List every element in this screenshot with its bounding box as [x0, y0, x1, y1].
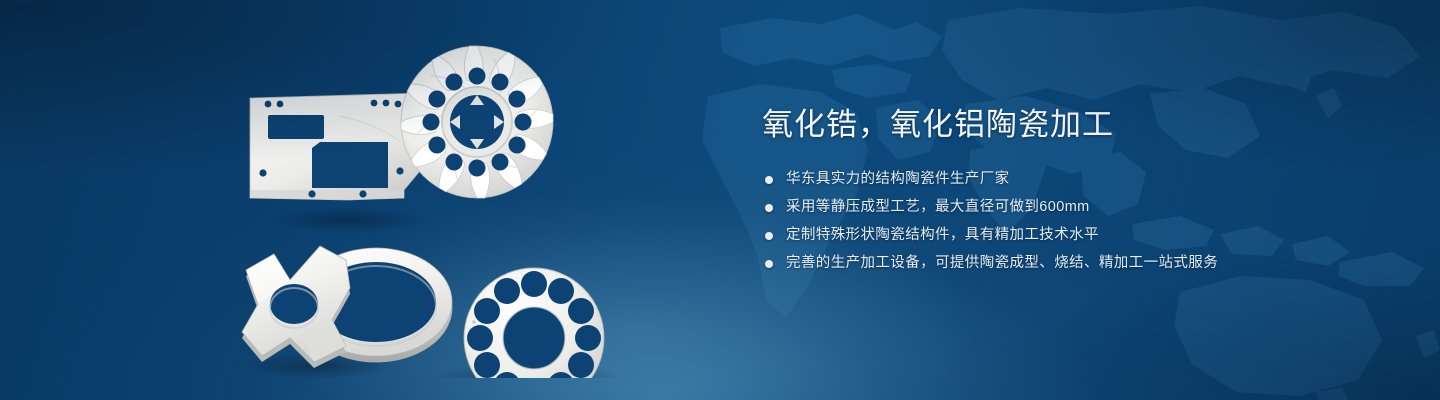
- promo-banner: 氧化锆，氧化铝陶瓷加工 华东具实力的结构陶瓷件生产厂家 采用等静压成型工艺，最大…: [0, 0, 1440, 400]
- background-vignette: [0, 0, 1440, 400]
